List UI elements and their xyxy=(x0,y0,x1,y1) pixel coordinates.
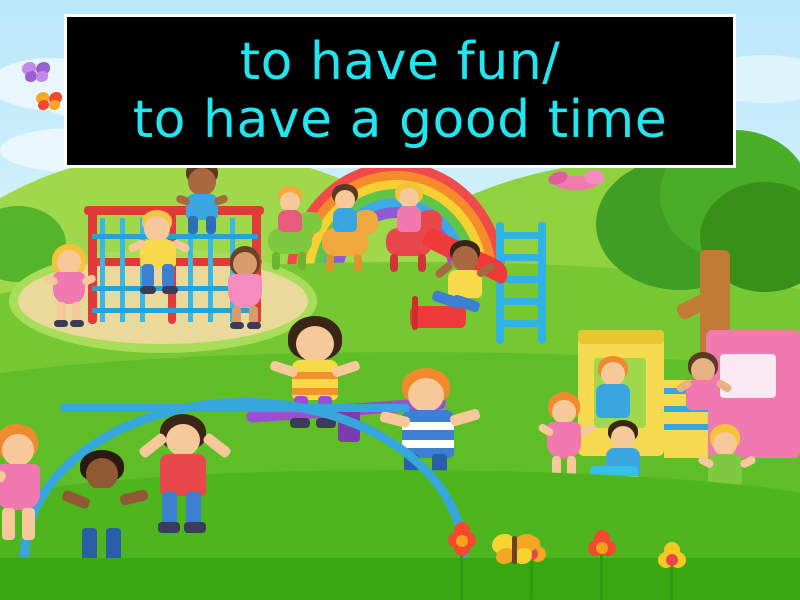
butterfly-top-left-2 xyxy=(36,92,62,114)
butterfly-top-left xyxy=(22,62,52,86)
bird-pink xyxy=(548,166,608,196)
butterfly-bottom xyxy=(492,534,538,570)
title-line-1: to have fun/ xyxy=(240,33,561,91)
title-line-2: to have a good time xyxy=(133,91,667,149)
slide xyxy=(408,222,558,342)
illustration-scene: to have fun/ to have a good time xyxy=(0,0,800,600)
definition-title-card: to have fun/ to have a good time xyxy=(64,14,736,168)
flower-cluster-bottom xyxy=(420,510,800,600)
